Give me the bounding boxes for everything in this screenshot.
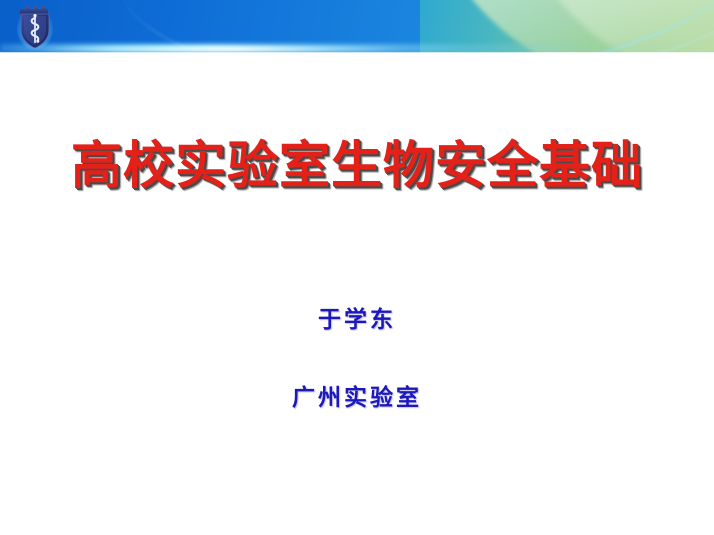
slide-title-container: 高校实验室生物安全基础 <box>0 138 714 197</box>
header-banner <box>0 0 714 53</box>
presenter-name: 于学东 <box>0 300 714 334</box>
slide-title: 高校实验室生物安全基础 <box>71 138 643 197</box>
banner-glow-streak <box>40 47 400 51</box>
banner-bottom-edge <box>0 52 714 53</box>
presentation-slide: 高校实验室生物安全基础 于学东 广州实验室 <box>0 0 714 535</box>
shield-caduceus-logo-icon <box>16 3 54 51</box>
slide-subtitle-container: 于学东 广州实验室 <box>0 300 714 412</box>
presenter-affiliation: 广州实验室 <box>0 378 714 412</box>
